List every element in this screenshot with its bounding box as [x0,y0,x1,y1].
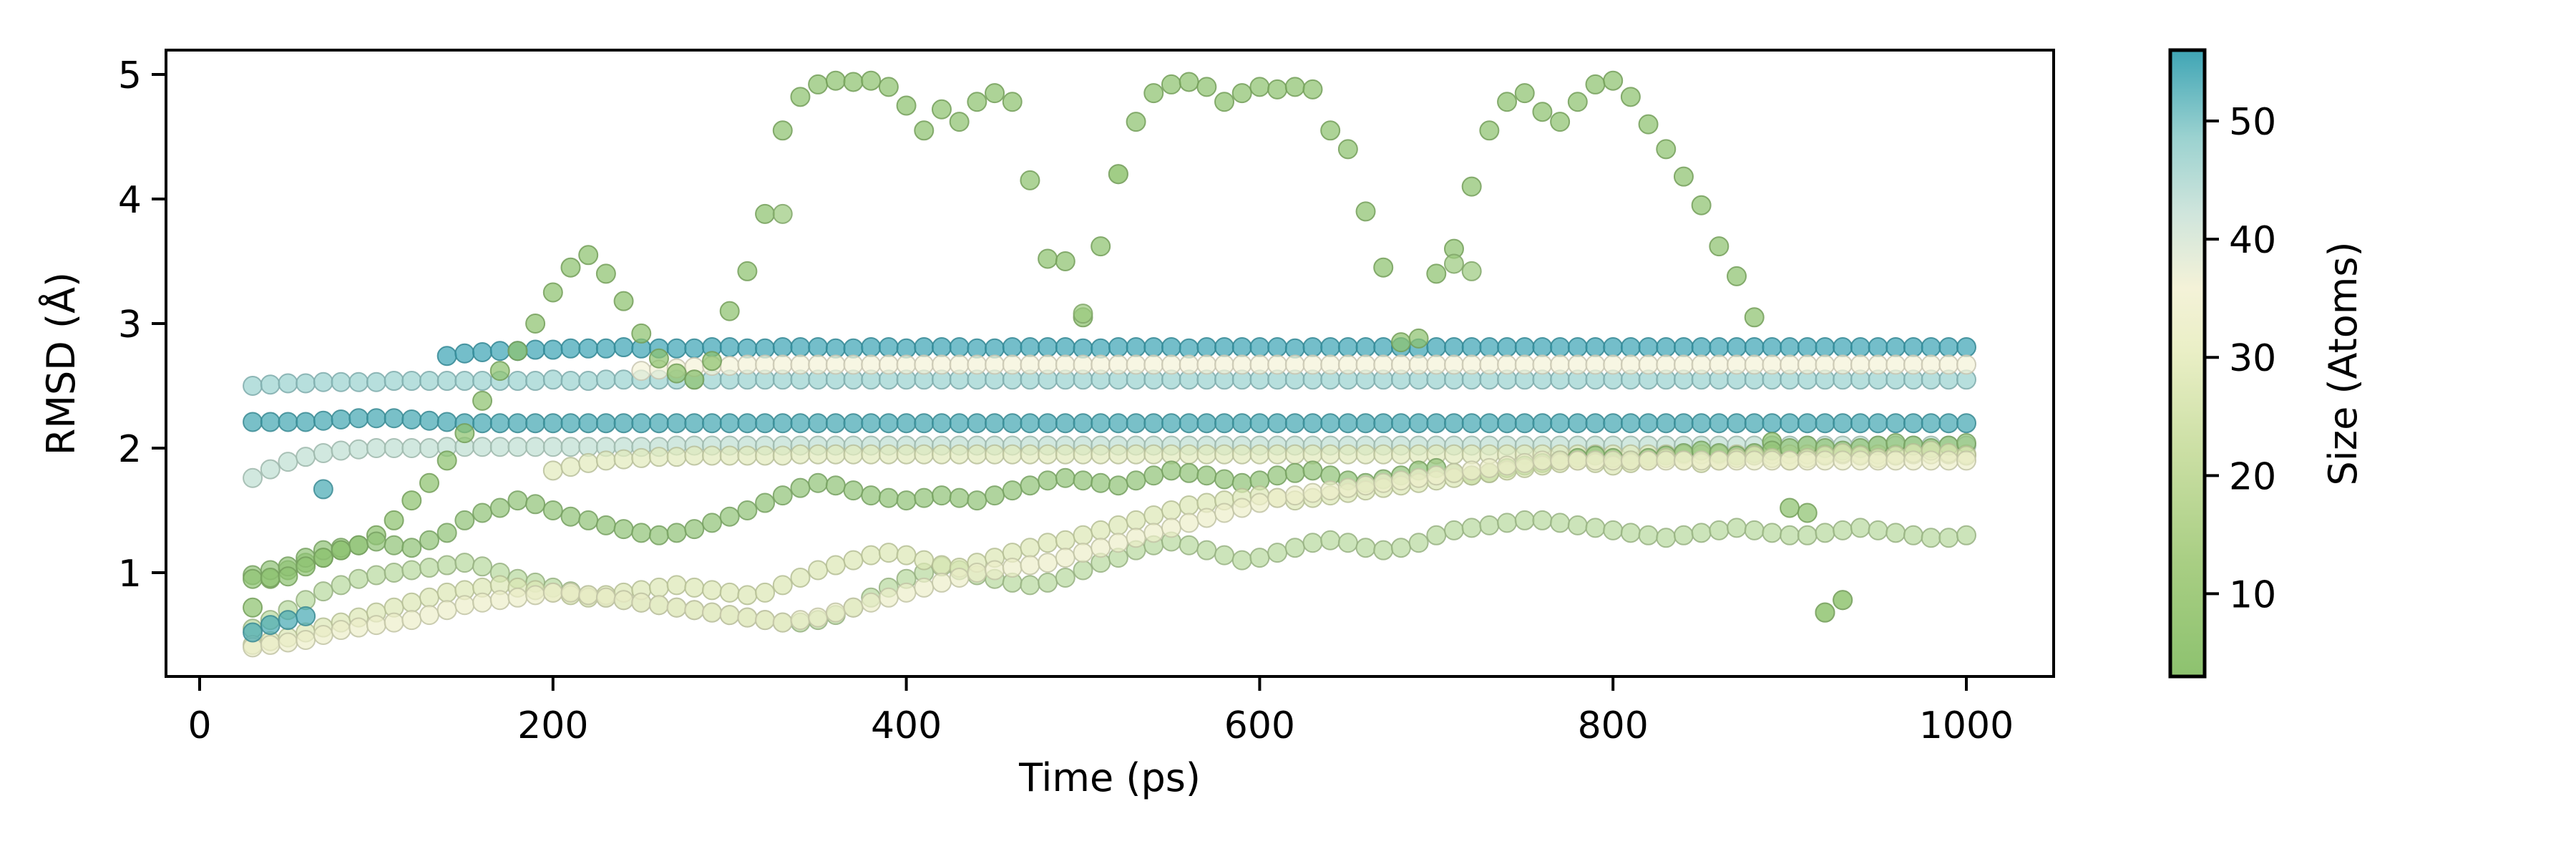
data-point [1427,355,1445,374]
data-point [1745,414,1764,432]
data-point [1056,531,1075,550]
data-point [278,412,297,431]
data-point [1038,250,1057,268]
data-point [844,355,863,374]
data-point [1798,503,1817,522]
data-point [1480,121,1498,140]
data-point [508,491,527,510]
data-point [243,469,262,487]
data-point [1180,414,1199,432]
data-point [1445,521,1463,540]
data-point [1003,445,1022,464]
data-point [897,491,916,510]
data-point [1410,533,1428,552]
data-point [1303,461,1322,480]
data-point [1056,568,1075,587]
data-point [985,561,1004,580]
data-point [597,414,615,432]
data-point [967,92,986,111]
data-point [862,486,880,505]
data-point [473,437,492,456]
data-point [1692,414,1711,432]
data-point [1674,451,1693,470]
data-point [932,573,951,592]
data-point [349,373,368,392]
data-point [1233,414,1252,432]
data-point [473,503,492,522]
data-point [721,302,739,321]
data-point [862,355,880,374]
data-point [544,501,562,520]
data-point [1727,414,1746,432]
data-point [1780,338,1799,356]
data-point [1904,526,1923,545]
data-point [879,588,898,607]
data-point [402,439,421,457]
data-point [1144,466,1163,485]
data-point [1392,445,1410,464]
data-point [1091,474,1110,492]
data-point [1268,414,1287,432]
data-point [1144,445,1163,464]
data-point [402,538,421,557]
data-point [1815,523,1834,542]
data-point [491,341,509,360]
x-tick-label: 200 [517,704,588,747]
data-point [1303,533,1322,552]
data-point [1357,202,1375,220]
data-point [685,414,703,432]
data-point [1233,551,1252,570]
data-point [1215,92,1234,111]
data-point [1038,355,1057,374]
data-point [1020,414,1039,432]
data-point [1357,538,1375,557]
data-point [1480,338,1498,356]
data-point [1551,513,1569,532]
data-point [420,412,439,430]
data-point [349,618,368,637]
data-point [1657,355,1675,374]
data-point [809,445,827,464]
data-point [721,446,739,465]
data-point [1568,338,1587,356]
data-point [1321,481,1340,500]
data-point [950,489,969,508]
data-point [402,410,421,429]
data-point [349,570,368,588]
data-point [1445,338,1463,356]
data-point [1091,445,1110,464]
data-point [756,583,774,602]
data-point [1339,445,1357,464]
data-point [1056,252,1075,271]
data-point [455,596,474,614]
data-point [597,370,615,389]
data-point [1957,526,1976,545]
data-point [1498,513,1516,532]
y-tick-label: 4 [118,179,142,222]
data-point [1445,414,1463,432]
data-point [1851,338,1870,356]
data-point [1162,355,1181,374]
data-point [615,338,633,356]
data-point [1286,538,1304,557]
data-point [491,361,509,380]
data-point [261,616,280,634]
data-point [420,588,439,607]
data-point [1533,451,1551,470]
data-point [1639,526,1658,545]
data-point [1003,481,1022,500]
data-point [1780,526,1799,545]
data-point [1109,414,1128,432]
data-point [1180,464,1199,482]
data-point [508,588,527,607]
data-point [791,479,809,498]
data-point [455,553,474,572]
data-point [1180,355,1199,374]
x-tick-label: 0 [187,704,211,747]
data-point [844,481,863,500]
data-point [1392,414,1410,432]
data-point [278,611,297,629]
data-point [967,445,986,464]
data-point [1798,451,1817,470]
data-point [668,339,686,358]
data-point [774,576,792,594]
data-point [1463,414,1481,432]
data-point [1020,355,1039,374]
data-point [491,414,509,432]
data-point [1780,414,1799,432]
data-point [1692,196,1711,215]
data-point [1833,521,1852,540]
data-point [1339,355,1357,374]
data-point [561,414,580,432]
data-point [1674,338,1693,356]
data-point [668,447,686,466]
data-point [1604,355,1622,374]
data-point [1074,471,1093,490]
data-point [1604,451,1622,470]
data-point [826,603,845,622]
data-point [367,439,386,457]
data-point [791,611,809,629]
data-point [826,72,845,90]
data-point [332,373,351,392]
data-point [879,414,898,432]
data-point [1833,338,1852,356]
data-point [1727,338,1746,356]
data-point [650,578,668,597]
data-point [1410,355,1428,374]
data-point [314,626,333,644]
data-point [579,586,597,604]
data-point [1886,338,1905,356]
data-point [897,546,916,565]
data-point [526,314,545,333]
data-point [278,374,297,393]
data-point [862,414,880,432]
data-point [1815,414,1834,432]
data-point [879,445,898,464]
data-point [1727,267,1746,286]
data-point [1427,466,1445,485]
data-point [1904,338,1923,356]
data-point [385,536,404,555]
data-point [1621,87,1640,106]
data-point [1762,523,1781,542]
scatter-points-layer [243,72,1976,657]
data-point [826,556,845,575]
data-point [668,598,686,617]
data-point [278,567,297,586]
data-point [1286,355,1304,374]
data-point [1833,591,1852,609]
data-point [1798,355,1817,374]
data-point [1162,338,1181,356]
data-point [774,446,792,465]
data-point [1038,573,1057,592]
data-point [1410,329,1428,348]
data-point [615,591,633,609]
data-point [508,414,527,432]
data-point [685,339,703,358]
data-point [1551,338,1569,356]
data-point [1762,414,1781,432]
data-point [1727,451,1746,470]
data-point [1357,338,1375,356]
data-point [632,324,650,343]
data-point [615,292,633,311]
data-point [1020,556,1039,575]
data-point [1144,84,1163,102]
data-point [1250,445,1269,464]
data-point [579,511,597,530]
data-point [1074,304,1093,323]
data-point [879,489,898,508]
data-point [261,636,280,654]
data-point [1020,171,1039,190]
data-point [721,356,739,375]
data-point [1197,355,1216,374]
data-point [774,486,792,505]
data-point [1215,414,1234,432]
data-point [1939,414,1958,432]
data-point [402,561,421,580]
data-point [721,414,739,432]
data-point [579,246,597,264]
data-point [1374,355,1392,374]
data-point [438,372,457,390]
data-point [879,338,898,356]
data-point [367,373,386,392]
data-point [791,568,809,587]
data-point [1215,503,1234,522]
data-point [756,414,774,432]
data-point [473,392,492,410]
data-point [1074,526,1093,545]
data-point [721,606,739,624]
data-point [1268,355,1287,374]
data-point [932,445,951,464]
data-point [632,593,650,612]
data-point [1303,80,1322,99]
y-tick-label: 2 [118,428,142,471]
data-point [1886,451,1905,470]
data-point [1674,355,1693,374]
data-point [1357,476,1375,495]
data-point [1621,523,1640,542]
data-point [897,445,916,464]
data-point [1197,541,1216,560]
data-point [914,445,933,464]
data-point [632,449,650,467]
data-point [897,355,916,374]
data-point [332,410,351,429]
data-point [367,409,386,427]
data-point [1869,338,1888,356]
data-point [367,616,386,634]
data-point [1250,494,1269,513]
data-point [879,77,898,96]
data-point [1516,454,1534,472]
data-point [1568,92,1587,111]
data-point [1339,140,1357,158]
data-point [791,338,809,356]
data-point [1869,414,1888,432]
data-point [243,598,262,617]
data-point [561,437,580,456]
data-point [809,338,827,356]
data-point [1957,414,1976,432]
data-point [243,623,262,642]
colorbar-tick-label: 30 [2229,337,2276,380]
data-point [314,444,333,462]
data-point [1233,338,1252,356]
data-point [1815,355,1834,374]
data-point [1286,445,1304,464]
data-point [1091,521,1110,540]
data-point [296,447,315,466]
y-tick-layer: 12345 [118,54,166,596]
data-point [1780,451,1799,470]
data-point [650,349,668,368]
data-point [561,508,580,526]
data-point [296,412,315,431]
data-point [914,414,933,432]
data-point [278,452,297,471]
data-point [844,551,863,570]
data-point [809,474,827,492]
data-point [1957,338,1976,356]
data-point [1180,72,1199,91]
data-point [385,511,404,530]
data-point [862,445,880,464]
data-point [1586,355,1605,374]
data-point [1144,355,1163,374]
colorbar-tick-label: 20 [2229,455,2276,498]
data-point [402,372,421,390]
data-point [1463,355,1481,374]
data-point [349,536,368,555]
data-point [738,586,756,604]
x-tick-layer: 02004006008001000 [187,676,2014,747]
data-point [1303,414,1322,432]
data-point [1604,72,1622,90]
data-point [1427,414,1445,432]
data-point [1498,92,1516,111]
data-point [1427,264,1445,283]
data-point [967,563,986,582]
data-point [1762,451,1781,470]
data-point [1480,459,1498,477]
data-point [1091,237,1110,256]
data-point [668,523,686,542]
data-point [597,264,615,283]
data-point [668,414,686,432]
data-point [685,370,703,389]
data-point [1516,355,1534,374]
data-point [1939,338,1958,356]
data-point [1709,451,1728,470]
data-point [455,511,474,530]
data-point [1286,414,1304,432]
data-point [950,338,969,356]
data-point [844,445,863,464]
data-point [1727,355,1746,374]
data-point [243,377,262,395]
data-point [774,205,792,223]
data-point [1604,338,1622,356]
data-point [473,343,492,361]
colorbar-tick-label: 40 [2229,219,2276,262]
data-point [932,414,951,432]
data-point [332,541,351,560]
data-point [597,339,615,358]
series-trajectory-14-green-spike-cluster [774,165,1852,621]
data-point [703,513,721,532]
data-point [791,445,809,464]
data-point [385,613,404,632]
data-point [385,409,404,427]
data-point [932,556,951,575]
data-point [1180,445,1199,464]
data-point [1922,355,1941,374]
data-point [1038,553,1057,572]
data-point [1003,338,1022,356]
data-point [1127,471,1146,490]
data-point [1357,414,1375,432]
data-point [1551,355,1569,374]
data-point [1144,338,1163,356]
y-tick-label: 3 [118,304,142,346]
data-point [1886,523,1905,542]
data-point [650,414,668,432]
data-point [1215,338,1234,356]
data-point [1020,538,1039,557]
data-point [774,414,792,432]
data-point [1109,165,1128,183]
data-point [1374,474,1392,492]
data-point [526,495,545,513]
data-point [1268,489,1287,508]
data-point [844,598,863,617]
data-point [491,437,509,456]
data-point [1657,414,1675,432]
data-point [738,608,756,627]
